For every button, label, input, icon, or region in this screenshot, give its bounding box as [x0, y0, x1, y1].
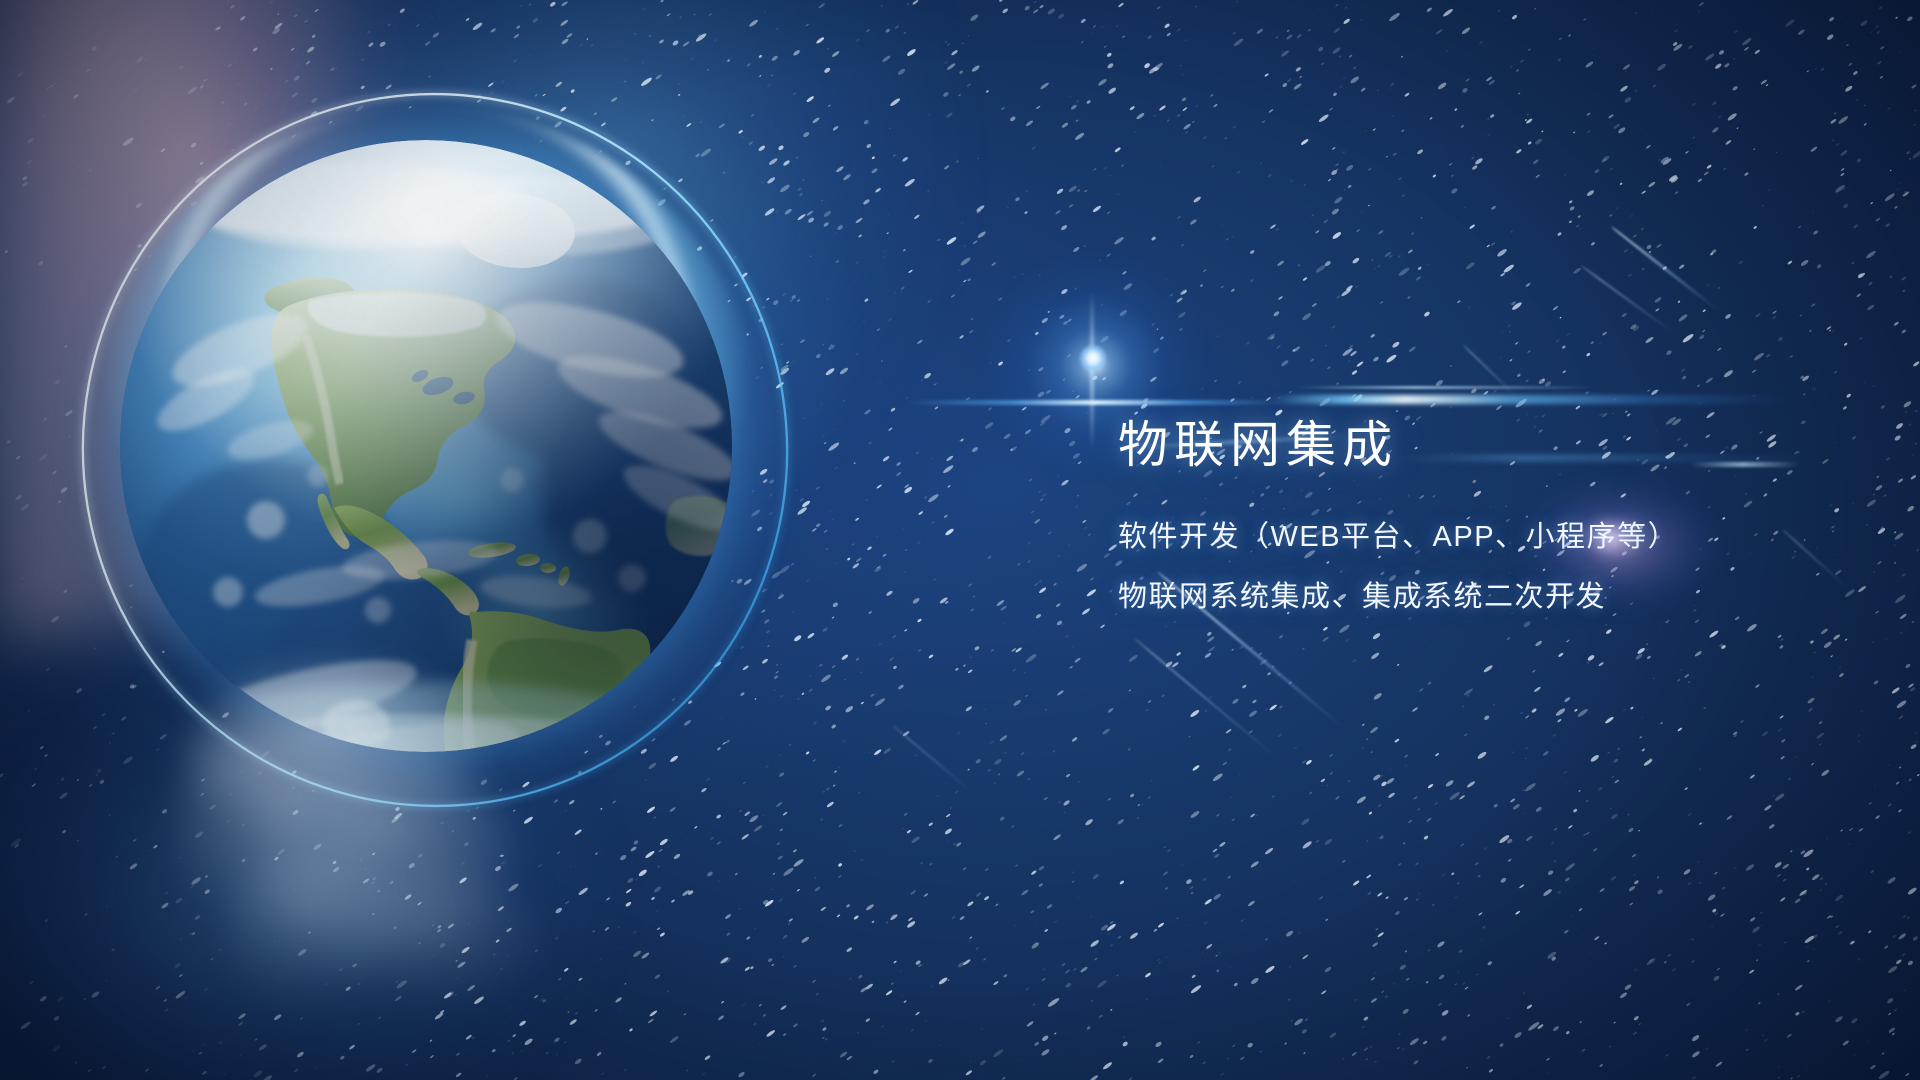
- meteor-streak: [1463, 344, 1522, 401]
- meteor-streak: [1581, 265, 1679, 337]
- subtitle-line-2: 物联网系统集成、集成系统二次开发: [1118, 573, 1878, 615]
- earth-globe: [120, 140, 732, 752]
- globe-sphere: [120, 140, 732, 752]
- page-title: 物联网集成: [1118, 418, 1878, 472]
- meteor-streak: [892, 725, 978, 797]
- banner-text-block: 物联网集成 软件开发（WEB平台、APP、小程序等） 物联网系统集成、集成系统二…: [1118, 418, 1878, 615]
- horizontal-light-streak-thin: [1295, 386, 1595, 389]
- horizontal-light-streak: [1270, 395, 1790, 404]
- lens-flare-horizontal-ray: [905, 400, 1285, 405]
- lens-flare-star-core: [1080, 345, 1106, 371]
- meteor-streak: [1134, 638, 1285, 765]
- iot-integration-banner: 物联网集成 软件开发（WEB平台、APP、小程序等） 物联网系统集成、集成系统二…: [0, 0, 1920, 1080]
- globe-map-svg: [120, 140, 732, 752]
- lens-flare-vertical-ray: [1090, 290, 1094, 450]
- meteor-streak: [1610, 225, 1722, 314]
- subtitle-line-1: 软件开发（WEB平台、APP、小程序等）: [1118, 513, 1878, 555]
